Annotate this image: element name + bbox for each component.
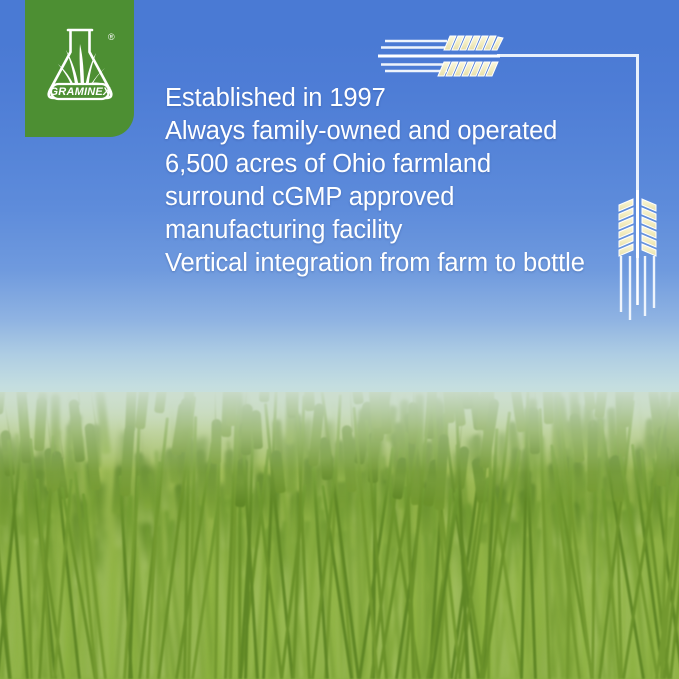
- promotional-banner: GRAMINEX ® Established in 1997 Always fa…: [0, 0, 679, 679]
- copy-line-established: Established in 1997: [165, 82, 635, 115]
- flask-with-grass-icon: GRAMINEX ®: [39, 22, 121, 110]
- registered-mark-icon: ®: [108, 32, 115, 42]
- marketing-copy-block: Established in 1997 Always family-owned …: [165, 82, 635, 280]
- copy-line-family-owned: Always family-owned and operated: [165, 115, 635, 148]
- copy-line-acreage: 6,500 acres of Ohio farmland surround cG…: [165, 148, 525, 247]
- field-horizon-haze: [0, 392, 679, 502]
- brand-logo-panel: GRAMINEX ®: [25, 0, 134, 137]
- wheat-field-photo: [0, 392, 679, 679]
- copy-line-vertical-integration: Vertical integration from farm to bottle: [165, 247, 635, 280]
- brand-wordmark: GRAMINEX: [50, 86, 111, 98]
